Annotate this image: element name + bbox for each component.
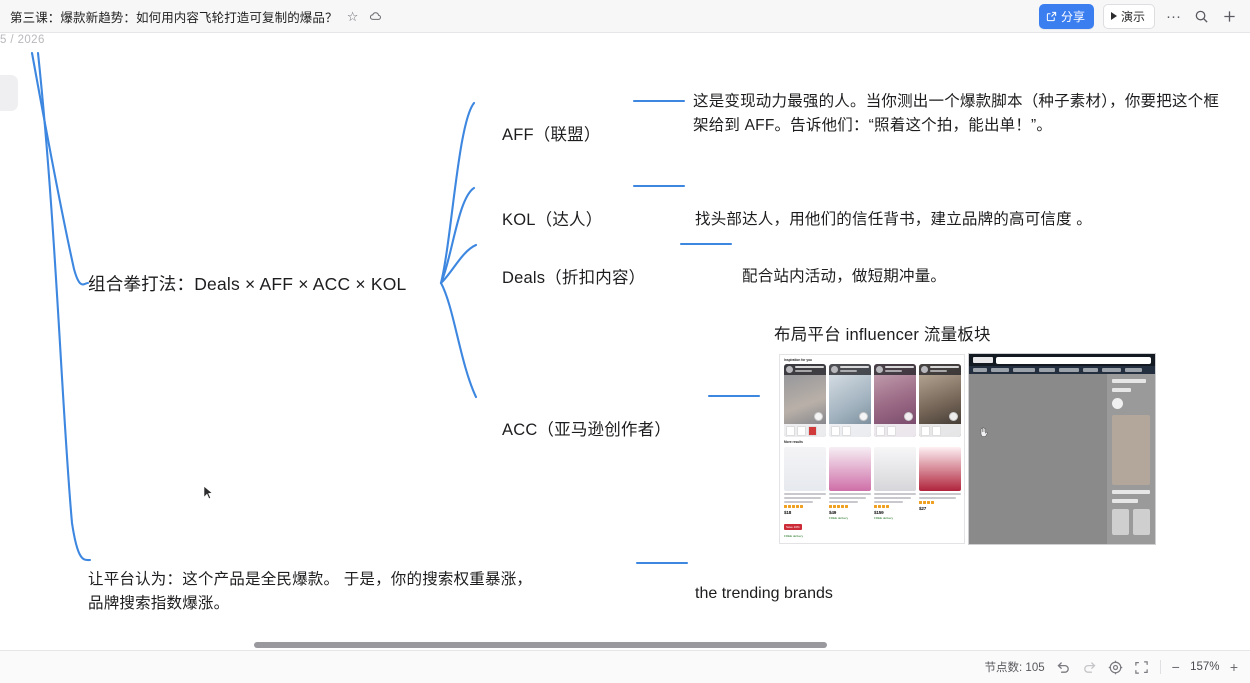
rating-stars bbox=[829, 505, 871, 508]
video-play-badge bbox=[859, 412, 868, 421]
zoom-level-value[interactable]: 157% bbox=[1187, 661, 1223, 673]
zoom-controls: − 157% + bbox=[1160, 660, 1238, 674]
mindmap-desc-kol[interactable]: 找头部达人，用他们的信任背书，建立品牌的高可信度 。 bbox=[695, 208, 1195, 232]
mindmap-node-kol[interactable]: KOL（达人） bbox=[502, 206, 602, 230]
fit-screen-icon[interactable] bbox=[1134, 660, 1149, 675]
share-button[interactable]: 分享 bbox=[1039, 4, 1094, 29]
product-card: $18 Save 10% FREE delivery bbox=[784, 447, 826, 538]
video-play-badge bbox=[814, 412, 823, 421]
video-card bbox=[874, 364, 916, 437]
plus-icon[interactable] bbox=[1220, 9, 1239, 24]
video-card-products bbox=[874, 424, 916, 437]
play-icon bbox=[1111, 12, 1117, 20]
amazon-subnav bbox=[969, 366, 1155, 374]
product-price: $49 bbox=[829, 510, 871, 515]
product-shipping: FREE delivery bbox=[874, 516, 916, 520]
video-card-header bbox=[829, 364, 871, 375]
share-label: 分享 bbox=[1061, 8, 1085, 25]
mindmap-node-bottom[interactable]: 让平台认为：这个产品是全民爆款。 于是，你的搜索权重暴涨， 品牌搜索指数爆涨。 bbox=[88, 568, 648, 616]
mindmap-desc-deals[interactable]: 配合站内活动，做短期冲量。 bbox=[742, 265, 1082, 289]
video-card-header bbox=[919, 364, 961, 375]
product-title bbox=[874, 493, 916, 503]
creator-avatar bbox=[1112, 398, 1123, 409]
product-image bbox=[919, 447, 961, 491]
mindmap-leaf-trending-brands[interactable]: the trending brands bbox=[695, 585, 833, 603]
target-icon[interactable] bbox=[1108, 660, 1123, 675]
zoom-out-button[interactable]: − bbox=[1172, 660, 1180, 674]
product-image bbox=[784, 447, 826, 491]
hand-cursor-icon bbox=[977, 426, 991, 438]
product-image bbox=[874, 447, 916, 491]
shot-a-product-grid: $18 Save 10% FREE delivery $49 FREE deli… bbox=[780, 447, 964, 538]
title-bar-right: 分享 演示 ··· bbox=[1039, 4, 1250, 29]
title-bar-left: 第三课：爆款新趋势：如何用内容飞轮打造可复制的爆品？ ☆ bbox=[0, 7, 1039, 26]
mindmap-node-deals[interactable]: Deals（折扣内容） bbox=[502, 264, 645, 288]
video-card bbox=[919, 364, 961, 437]
embedded-screenshot-amazon-page[interactable] bbox=[968, 353, 1156, 545]
mindmap-desc-aff[interactable]: 这是变现动力最强的人。当你测出一个爆款脚本（种子素材），你要把这个框架给到 AF… bbox=[693, 90, 1233, 138]
mindmap-node-aff[interactable]: AFF（联盟） bbox=[502, 121, 601, 145]
more-options-button[interactable]: ··· bbox=[1164, 9, 1183, 24]
product-price: $27 bbox=[919, 506, 961, 511]
video-play-badge bbox=[949, 412, 958, 421]
amazon-side-panel bbox=[1107, 374, 1155, 545]
rating-stars bbox=[784, 505, 826, 508]
product-card: $27 bbox=[919, 447, 961, 538]
panel-products bbox=[1112, 509, 1150, 535]
product-image bbox=[829, 447, 871, 491]
video-card-products bbox=[784, 424, 826, 437]
amazon-page-body bbox=[969, 374, 1155, 545]
mindmap-node-center[interactable]: 组合拳打法：Deals × AFF × ACC × KOL bbox=[88, 271, 406, 296]
product-badge: Save 10% bbox=[784, 524, 802, 530]
external-link-icon bbox=[1046, 11, 1057, 22]
mindmap-node-acc[interactable]: ACC（亚马逊创作者） bbox=[502, 416, 671, 440]
search-icon[interactable] bbox=[1192, 9, 1211, 24]
star-icon[interactable]: ☆ bbox=[345, 8, 361, 24]
product-shipping: FREE delivery bbox=[784, 534, 826, 538]
video-card-products bbox=[919, 424, 961, 437]
mindmap-node-influencer-section[interactable]: 布局平台 influencer 流量板块 bbox=[774, 321, 991, 345]
bottom-bar: 节点数: 105 − 157% + bbox=[0, 650, 1250, 683]
shot-a-video-cards bbox=[780, 364, 964, 437]
undo-icon[interactable] bbox=[1056, 660, 1071, 675]
product-title bbox=[784, 493, 826, 503]
rating-stars bbox=[874, 505, 916, 508]
present-button[interactable]: 演示 bbox=[1103, 4, 1155, 29]
redo-icon[interactable] bbox=[1082, 660, 1097, 675]
offscreen-node-stub bbox=[0, 75, 18, 111]
embedded-screenshot-amazon-feed[interactable]: Inspiration for you bbox=[779, 354, 965, 544]
product-shipping: FREE delivery bbox=[829, 516, 871, 520]
zoom-in-button[interactable]: + bbox=[1230, 660, 1238, 674]
mouse-cursor bbox=[203, 485, 214, 501]
product-card: $49 FREE delivery bbox=[829, 447, 871, 538]
shot-a-header: Inspiration for you bbox=[780, 355, 964, 364]
amazon-navbar bbox=[969, 354, 1155, 366]
rating-stars bbox=[919, 501, 961, 504]
product-price: $18 bbox=[784, 510, 826, 515]
horizontal-scrollbar[interactable] bbox=[254, 642, 827, 648]
shot-a-section-2: More results bbox=[780, 437, 964, 446]
video-card bbox=[829, 364, 871, 437]
video-card-header bbox=[874, 364, 916, 375]
product-title bbox=[919, 493, 961, 499]
video-card-header bbox=[784, 364, 826, 375]
date-stub: 5 / 2026 bbox=[0, 34, 45, 46]
title-bar: 第三课：爆款新趋势：如何用内容飞轮打造可复制的爆品？ ☆ 分享 演示 bbox=[0, 0, 1250, 33]
product-card: $159 FREE delivery bbox=[874, 447, 916, 538]
mindmap-canvas[interactable]: 5 / 2026 组合拳打法： bbox=[0, 33, 1250, 683]
video-card-products bbox=[829, 424, 871, 437]
product-title bbox=[829, 493, 871, 503]
video-play-badge bbox=[904, 412, 913, 421]
cloud-sync-icon[interactable] bbox=[368, 8, 384, 24]
node-count-label: 节点数: 105 bbox=[985, 659, 1045, 675]
creator-photo bbox=[1112, 415, 1150, 485]
mindmap-app: 第三课：爆款新趋势：如何用内容飞轮打造可复制的爆品？ ☆ 分享 演示 bbox=[0, 0, 1250, 683]
document-title[interactable]: 第三课：爆款新趋势：如何用内容飞轮打造可复制的爆品？ bbox=[10, 7, 338, 26]
video-card bbox=[784, 364, 826, 437]
present-label: 演示 bbox=[1121, 8, 1145, 25]
product-price: $159 bbox=[874, 510, 916, 515]
